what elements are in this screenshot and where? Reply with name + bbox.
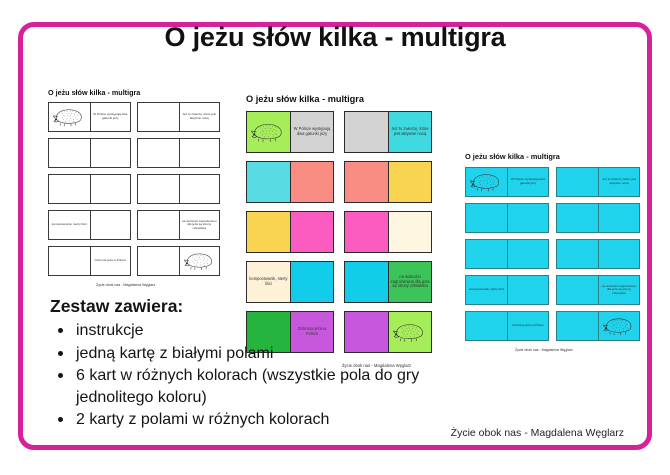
contents-list: instrukcjejedną kartę z białymi polami6 … xyxy=(50,320,470,431)
card-credit-cyan: Życie obok nas - Magdalena Węglarz xyxy=(515,348,640,352)
card-cell-pair[interactable] xyxy=(344,211,432,253)
card-cell-pair[interactable] xyxy=(556,239,640,269)
card-cell-pair[interactable]: na wolności zagrożeniem dla jeża są stro… xyxy=(556,275,640,305)
hedgehog-icon xyxy=(598,312,639,340)
card-cell-text[interactable]: kompostownik, sterty liści xyxy=(49,211,90,239)
card-cell-blank[interactable] xyxy=(507,276,548,304)
card-cell-blank[interactable] xyxy=(90,211,131,239)
card-cell-pair[interactable] xyxy=(246,161,334,203)
card-cell-text[interactable]: Ochrona jeża w Polsce xyxy=(90,247,131,275)
card-cell-blank[interactable] xyxy=(388,162,431,202)
card-cell-blank[interactable] xyxy=(138,103,179,131)
card-cell-text[interactable]: Jeż to zwierzę, które jest aktywne nocą xyxy=(598,168,639,196)
card-cell-blank[interactable] xyxy=(466,240,507,268)
card-title-colour: O jeżu słów kilka - multigra xyxy=(246,94,432,104)
card-cell-text[interactable]: Ochrona jeża w Polsce xyxy=(507,312,548,340)
card-cell-pair[interactable]: Jeż to zwierzę, które jest aktywne nocą xyxy=(344,111,432,153)
card-row xyxy=(246,211,432,253)
card-row: Ochrona jeża w Polsce xyxy=(48,246,220,276)
contents-list-item: 6 kart w różnych kolorach (wszystkie pol… xyxy=(50,365,470,408)
card-row xyxy=(48,138,220,168)
card-cell-pair[interactable]: W Polsce występują dwa gatunki jeży xyxy=(465,167,549,197)
card-cell-blank[interactable] xyxy=(388,212,431,252)
hedgehog-icon xyxy=(179,247,220,275)
card-cell-blank[interactable] xyxy=(557,276,598,304)
card-cell-blank[interactable] xyxy=(247,162,290,202)
card-cell-pair[interactable]: W Polsce występują dwa gatunki jeży xyxy=(48,102,131,132)
card-cell-blank[interactable] xyxy=(557,240,598,268)
card-cell-pair[interactable] xyxy=(465,203,549,233)
card-row: kompostownik, sterty liścina wolności za… xyxy=(465,275,640,305)
card-cell-blank[interactable] xyxy=(290,162,333,202)
card-cell-text[interactable]: W Polsce występują dwa gatunki jeży xyxy=(290,112,333,152)
card-cell-blank[interactable] xyxy=(138,247,179,275)
hedgehog-icon xyxy=(466,168,507,196)
card-cell-blank[interactable] xyxy=(557,312,598,340)
card-cell-blank[interactable] xyxy=(598,204,639,232)
card-cell-blank[interactable] xyxy=(557,168,598,196)
card-cell-text[interactable]: Jeż to zwierzę, które jest aktywne nocą xyxy=(179,103,220,131)
card-cell-blank[interactable] xyxy=(466,204,507,232)
card-cell-pair[interactable]: na wolności zagrożeniem dla jeża są stro… xyxy=(137,210,220,240)
card-row xyxy=(246,161,432,203)
card-cell-text[interactable]: na wolności zagrożeniem dla jeża są stro… xyxy=(598,276,639,304)
card-cell-pair[interactable] xyxy=(556,203,640,233)
footer-credit: Życie obok nas - Magdalena Węglarz xyxy=(451,427,624,439)
card-cell-blank[interactable] xyxy=(138,175,179,203)
card-cell-pair[interactable]: Jeż to zwierzę, które jest aktywne nocą xyxy=(137,102,220,132)
card-row xyxy=(465,239,640,269)
card-cell-pair[interactable] xyxy=(246,211,334,253)
card-cell-blank[interactable] xyxy=(49,175,90,203)
hedgehog-icon xyxy=(49,103,90,131)
card-cell-pair[interactable] xyxy=(556,311,640,341)
card-cell-pair[interactable]: Jeż to zwierzę, które jest aktywne nocą xyxy=(556,167,640,197)
card-cell-text[interactable]: W Polsce występują dwa gatunki jeży xyxy=(90,103,131,131)
card-grid-white: W Polsce występują dwa gatunki jeżyJeż t… xyxy=(48,102,220,282)
card-cell-text[interactable]: na wolności zagrożeniem dla jeża są stro… xyxy=(179,211,220,239)
card-cell-blank[interactable] xyxy=(49,247,90,275)
card-title-white: O jeżu słów kilka - multigra xyxy=(48,88,220,97)
card-cell-pair[interactable] xyxy=(48,138,131,168)
card-cell-blank[interactable] xyxy=(179,175,220,203)
card-row: Ochrona jeża w Polsce xyxy=(465,311,640,341)
card-cell-pair[interactable] xyxy=(465,239,549,269)
card-cell-blank[interactable] xyxy=(507,240,548,268)
contents-section: Zestaw zawiera: instrukcjejedną kartę z … xyxy=(50,296,470,432)
card-cell-text[interactable]: W Polsce występują dwa gatunki jeży xyxy=(507,168,548,196)
game-card-cyan: O jeżu słów kilka - multigra W Polsce wy… xyxy=(465,152,640,352)
card-cell-pair[interactable]: kompostownik, sterty liści xyxy=(48,210,131,240)
card-cell-text[interactable]: kompostownik, sterty liści xyxy=(466,276,507,304)
card-cell-blank[interactable] xyxy=(138,211,179,239)
card-cell-text[interactable]: Jeż to zwierzę, które jest aktywne nocą xyxy=(388,112,431,152)
card-cell-blank[interactable] xyxy=(247,212,290,252)
contents-heading: Zestaw zawiera: xyxy=(50,296,470,317)
card-row: W Polsce występują dwa gatunki jeżyJeż t… xyxy=(465,167,640,197)
card-row: W Polsce występują dwa gatunki jeżyJeż t… xyxy=(48,102,220,132)
card-cell-blank[interactable] xyxy=(466,312,507,340)
page-title: O jeżu słów kilka - multigra xyxy=(0,22,670,53)
card-cell-pair[interactable] xyxy=(344,161,432,203)
card-cell-pair[interactable]: Ochrona jeża w Polsce xyxy=(48,246,131,276)
card-cell-blank[interactable] xyxy=(598,240,639,268)
contents-list-item: jedną kartę z białymi polami xyxy=(50,343,470,365)
card-cell-pair[interactable]: Ochrona jeża w Polsce xyxy=(465,311,549,341)
card-credit-white: Życie obok nas - Magdalena Węglarz xyxy=(96,283,220,287)
card-grid-cyan: W Polsce występują dwa gatunki jeżyJeż t… xyxy=(465,167,640,347)
card-row: W Polsce występują dwa gatunki jeżyJeż t… xyxy=(246,111,432,153)
card-cell-blank[interactable] xyxy=(507,204,548,232)
card-cell-blank[interactable] xyxy=(345,162,388,202)
game-card-white: O jeżu słów kilka - multigra W Polsce wy… xyxy=(48,88,220,287)
card-cell-blank[interactable] xyxy=(90,139,131,167)
card-cell-blank[interactable] xyxy=(179,139,220,167)
card-cell-pair[interactable] xyxy=(137,246,220,276)
card-cell-blank[interactable] xyxy=(90,175,131,203)
contents-list-item: 2 karty z polami w różnych kolorach xyxy=(50,409,470,431)
card-cell-blank[interactable] xyxy=(290,212,333,252)
card-cell-blank[interactable] xyxy=(49,139,90,167)
card-cell-blank[interactable] xyxy=(345,212,388,252)
card-row: kompostownik, sterty liścina wolności za… xyxy=(48,210,220,240)
card-cell-blank[interactable] xyxy=(557,204,598,232)
card-cell-pair[interactable] xyxy=(137,138,220,168)
hedgehog-icon xyxy=(247,112,290,152)
card-cell-pair[interactable]: W Polsce występują dwa gatunki jeży xyxy=(246,111,334,153)
card-row xyxy=(465,203,640,233)
card-cell-blank[interactable] xyxy=(345,112,388,152)
card-cell-pair[interactable] xyxy=(137,174,220,204)
card-title-cyan: O jeżu słów kilka - multigra xyxy=(465,152,640,161)
contents-list-item: instrukcje xyxy=(50,320,470,342)
card-cell-pair[interactable] xyxy=(48,174,131,204)
card-row xyxy=(48,174,220,204)
card-cell-pair[interactable]: kompostownik, sterty liści xyxy=(465,275,549,305)
card-cell-blank[interactable] xyxy=(138,139,179,167)
